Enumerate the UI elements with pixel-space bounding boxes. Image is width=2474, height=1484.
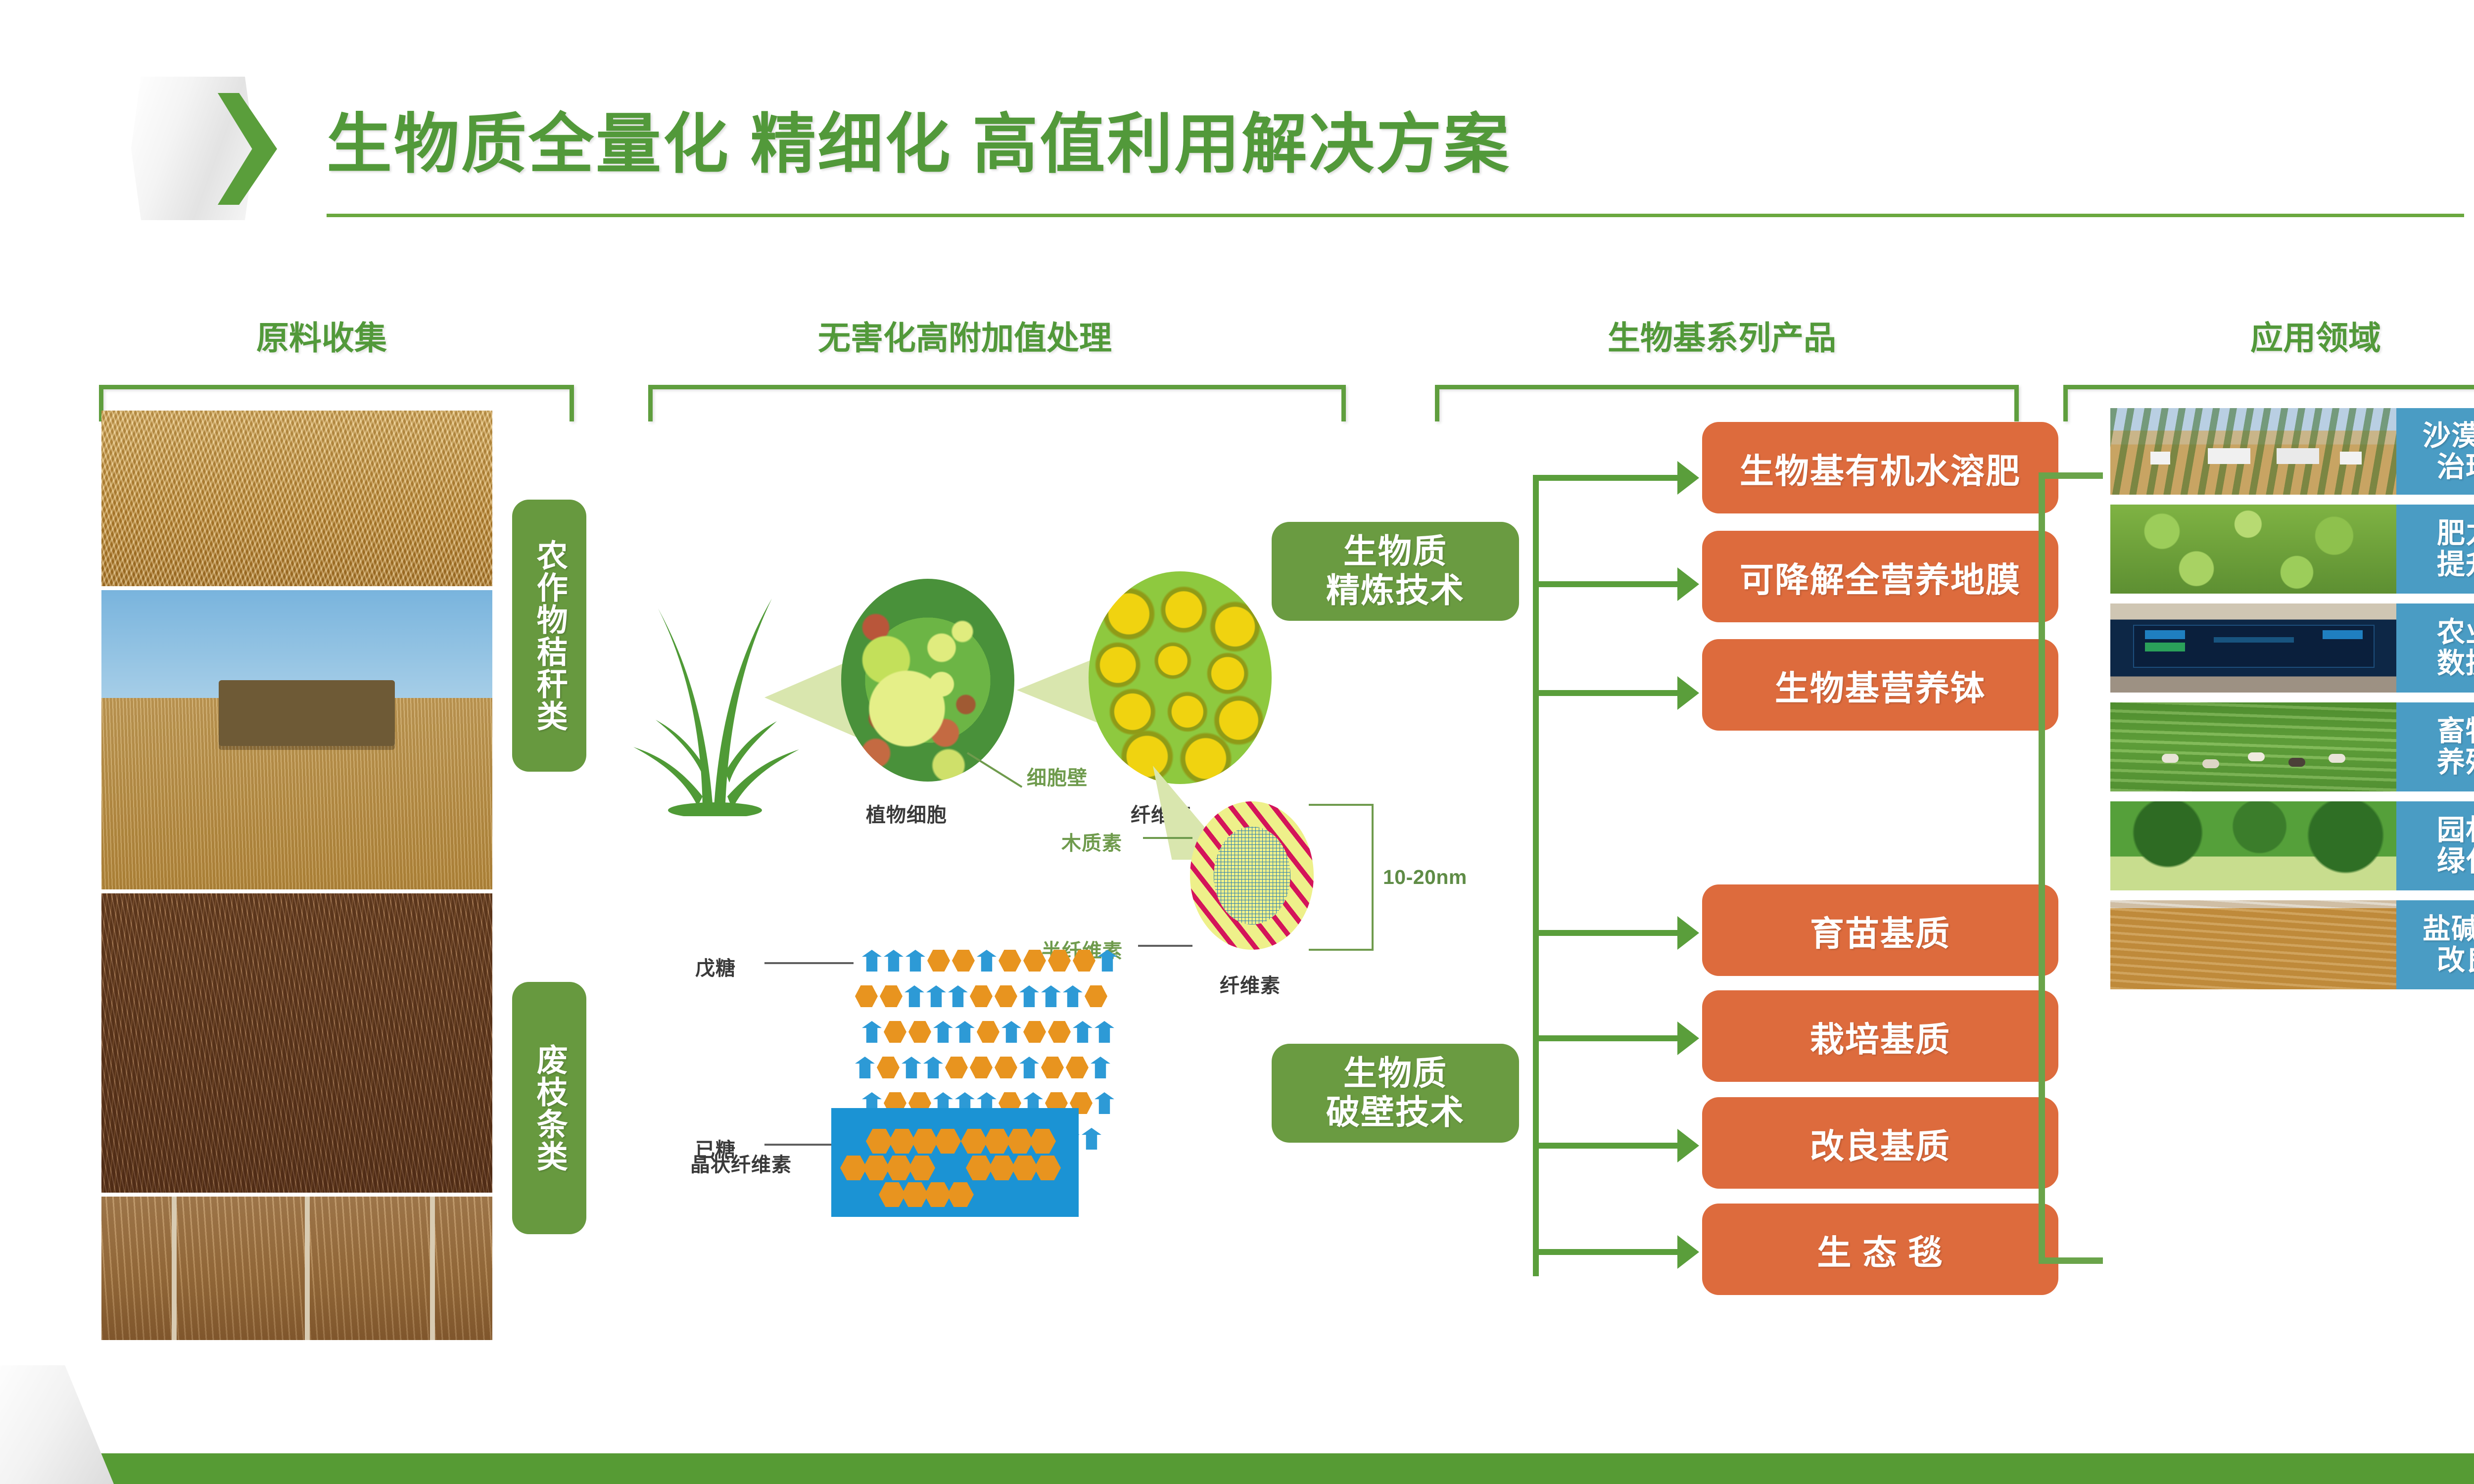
connector-branch-bottom-1 bbox=[1533, 930, 1681, 936]
photo-desert-restoration bbox=[2110, 408, 2397, 495]
hexose-unit-icon bbox=[995, 985, 1017, 1007]
arrowhead-bottom-4 bbox=[1677, 1235, 1699, 1269]
photo-corn-straw-field bbox=[101, 411, 492, 586]
application-label-line2: 数据 bbox=[2437, 648, 2474, 679]
hexose-unit-icon bbox=[1066, 1057, 1089, 1078]
tech-node-refining[interactable]: 生物质 精炼技术 bbox=[1272, 522, 1519, 621]
tech-node-line1: 生物质 bbox=[1343, 1054, 1447, 1093]
photo-park-landscaping bbox=[2110, 801, 2397, 890]
application-label-line1: 畜牧 bbox=[2437, 716, 2474, 747]
application-label-fertility-improvement[interactable]: 肥力 提升 bbox=[2396, 505, 2474, 594]
hexose-unit-icon bbox=[1041, 1057, 1064, 1078]
photo-pruned-branches bbox=[101, 893, 492, 1193]
footer-bar bbox=[99, 1453, 2474, 1484]
application-label-line1: 沙漠化 bbox=[2423, 420, 2474, 452]
hexose-unit-icon bbox=[970, 985, 993, 1007]
connector-branch-top-1 bbox=[1533, 475, 1681, 481]
plant-cell-label: 植物细胞 bbox=[866, 799, 947, 828]
hexose-unit-icon bbox=[1073, 950, 1095, 972]
pentose-leader-line bbox=[764, 962, 854, 964]
dim-line-vertical bbox=[1372, 804, 1374, 951]
hexose-unit-icon bbox=[995, 1057, 1017, 1078]
connector-branch-bottom-2 bbox=[1533, 1035, 1681, 1041]
sugar-chain-row bbox=[855, 1057, 1110, 1078]
arrowhead-bottom-3 bbox=[1677, 1129, 1699, 1162]
footer-wedge-decoration bbox=[0, 1365, 114, 1484]
photo-saline-alkali-land bbox=[2110, 900, 2397, 989]
arrowhead-bottom-1 bbox=[1677, 916, 1699, 950]
application-label-line2: 养殖 bbox=[2437, 747, 2474, 778]
feedstock-category-waste-branches[interactable]: 废枝条类 bbox=[512, 982, 586, 1234]
application-label-livestock-breeding[interactable]: 畜牧 养殖 bbox=[2396, 702, 2474, 791]
tech-node-wall-breaking[interactable]: 生物质 破壁技术 bbox=[1272, 1044, 1519, 1143]
bracket-processing bbox=[648, 385, 1346, 421]
hexose-unit-icon bbox=[884, 1021, 906, 1043]
application-label-line2: 治理 bbox=[2437, 452, 2474, 483]
arrowhead-top-3 bbox=[1677, 676, 1699, 710]
slide-canvas: 生物质全量化 精细化 高值利用解决方案 原料收集 无害化高附加值处理 生物基系列… bbox=[0, 0, 2474, 1484]
tech-node-line2: 精炼技术 bbox=[1326, 571, 1465, 610]
connector-branch-top-3 bbox=[1533, 690, 1681, 696]
application-label-line1: 盐碱地 bbox=[2423, 914, 2474, 945]
application-label-desertification-control[interactable]: 沙漠化 治理 bbox=[2396, 408, 2474, 495]
pentose-unit-icon bbox=[902, 1057, 921, 1078]
pentose-unit-icon bbox=[1041, 985, 1061, 1007]
hexose-unit-icon bbox=[1023, 950, 1046, 972]
tech-node-line2: 破壁技术 bbox=[1326, 1093, 1465, 1132]
pentose-unit-icon bbox=[948, 985, 968, 1007]
lignin-leader-line bbox=[1143, 837, 1192, 839]
photo-vineyard-pruning bbox=[101, 1197, 492, 1340]
pentose-unit-icon bbox=[1019, 985, 1039, 1007]
application-label-agriculture-data[interactable]: 农业 数据 bbox=[2396, 603, 2474, 693]
title-underline-divider bbox=[327, 214, 2464, 217]
pentose-unit-icon bbox=[905, 950, 925, 972]
hexose-unit-icon bbox=[855, 985, 878, 1007]
hexose-unit-icon bbox=[1048, 950, 1071, 972]
application-label-line1: 园林 bbox=[2437, 815, 2474, 846]
hexose-unit-icon bbox=[877, 1057, 900, 1078]
fiber-dimension-label: 10-20nm bbox=[1383, 866, 1467, 889]
product-node-ecological-blanket[interactable]: 生 态 毯 bbox=[1702, 1204, 2058, 1295]
cell-wall-label: 细胞壁 bbox=[1027, 762, 1088, 790]
pentose-unit-icon bbox=[1019, 1057, 1039, 1078]
pentose-unit-icon bbox=[1094, 1092, 1114, 1114]
dim-tick-top bbox=[1309, 804, 1373, 806]
pentose-unit-icon bbox=[1094, 1021, 1114, 1043]
hexose-unit-icon bbox=[908, 1021, 931, 1043]
pentose-unit-icon bbox=[1073, 1021, 1093, 1043]
arrowhead-top-1 bbox=[1677, 461, 1699, 495]
crystalline-cellulose-panel bbox=[831, 1108, 1079, 1217]
sugar-chain-row bbox=[855, 985, 1107, 1007]
application-label-saline-alkali-improvement[interactable]: 盐碱地 改良 bbox=[2396, 900, 2474, 989]
section-label-collection: 原料收集 bbox=[163, 312, 480, 359]
product-node-improvement-substrate[interactable]: 改良基质 bbox=[1702, 1097, 2058, 1189]
feedstock-category-crop-straw[interactable]: 农作物秸秆类 bbox=[512, 500, 586, 772]
pentose-unit-icon bbox=[1001, 1021, 1021, 1043]
hexose-unit-icon bbox=[970, 1057, 993, 1078]
dim-tick-bottom bbox=[1309, 949, 1373, 951]
hexose-unit-icon bbox=[880, 985, 903, 1007]
hexose-unit-icon bbox=[1085, 985, 1107, 1007]
feedstock-category-label: 农作物秸秆类 bbox=[533, 539, 566, 732]
pentose-unit-icon bbox=[933, 1021, 953, 1043]
sugar-chain-row bbox=[862, 1021, 1114, 1043]
application-label-line2: 绿化 bbox=[2437, 846, 2474, 877]
plant-cell-illustration bbox=[841, 579, 1014, 782]
product-node-water-soluble-fertilizer[interactable]: 生物基有机水溶肥 bbox=[1702, 422, 2058, 513]
pentose-unit-icon bbox=[977, 950, 997, 972]
hemicellulose-leader-line bbox=[1138, 945, 1192, 947]
hexose-unit-icon bbox=[1023, 1021, 1046, 1043]
application-label-line2: 改良 bbox=[2437, 945, 2474, 976]
hexose-unit-icon bbox=[945, 1057, 968, 1078]
pentose-unit-icon bbox=[926, 985, 946, 1007]
pentose-unit-icon bbox=[1091, 1057, 1110, 1078]
hexose-unit-icon bbox=[927, 950, 950, 972]
product-node-nutrition-pot[interactable]: 生物基营养钵 bbox=[1702, 639, 2058, 731]
photo-straw-bale-field bbox=[101, 590, 492, 889]
pentose-unit-icon bbox=[923, 1057, 943, 1078]
connector-branch-bottom-3 bbox=[1533, 1143, 1681, 1149]
pentose-unit-icon bbox=[862, 1021, 882, 1043]
cellulose-label: 纤维素 bbox=[1220, 970, 1281, 998]
product-node-seedling-substrate[interactable]: 育苗基质 bbox=[1702, 884, 2058, 976]
application-label-line2: 提升 bbox=[2437, 549, 2474, 580]
tech-node-line1: 生物质 bbox=[1343, 532, 1447, 571]
section-label-processing: 无害化高附加值处理 bbox=[658, 312, 1272, 359]
connector-branch-bottom-4 bbox=[1533, 1249, 1681, 1255]
application-label-line1: 农业 bbox=[2437, 617, 2474, 648]
hexose-unit-icon bbox=[1048, 1021, 1071, 1043]
photo-agriculture-data-control-room bbox=[2110, 603, 2397, 693]
feedstock-category-label: 废枝条类 bbox=[533, 1044, 566, 1172]
bracket-products bbox=[1435, 385, 2019, 421]
pentose-unit-icon bbox=[1063, 985, 1083, 1007]
hexose-unit-icon bbox=[999, 950, 1021, 972]
pentose-unit-icon bbox=[1097, 950, 1117, 972]
fiber-bundle-illustration bbox=[1089, 571, 1272, 784]
pentose-unit-icon bbox=[855, 1057, 875, 1078]
product-node-cultivation-substrate[interactable]: 栽培基质 bbox=[1702, 990, 2058, 1082]
arrowhead-bottom-2 bbox=[1677, 1021, 1699, 1055]
pentose-label: 戊糖 bbox=[695, 952, 736, 981]
arrowhead-top-2 bbox=[1677, 567, 1699, 601]
pentose-unit-icon bbox=[862, 950, 882, 972]
lignin-label: 木质素 bbox=[1061, 827, 1122, 856]
bracket-application-group bbox=[2039, 472, 2103, 1264]
photo-sheep-grazing-pasture bbox=[2110, 702, 2397, 791]
pentose-unit-icon bbox=[955, 1021, 975, 1043]
section-label-products: 生物基系列产品 bbox=[1425, 312, 2019, 359]
connector-trunk-bottom bbox=[1533, 930, 1539, 1276]
crystalline-cellulose-label: 晶状纤维素 bbox=[690, 1149, 792, 1177]
product-node-degradable-mulch-film[interactable]: 可降解全营养地膜 bbox=[1702, 531, 2058, 622]
page-title: 生物质全量化 精细化 高值利用解决方案 bbox=[327, 92, 1511, 186]
hexose-unit-icon bbox=[952, 950, 975, 972]
pentose-unit-icon bbox=[904, 985, 924, 1007]
pentose-unit-icon bbox=[884, 950, 904, 972]
fiber-cross-section-illustration bbox=[1190, 801, 1314, 950]
connector-branch-top-2 bbox=[1533, 581, 1681, 587]
photo-cabbage-field bbox=[2110, 505, 2397, 594]
cell-wall-leader-line bbox=[967, 752, 1022, 788]
application-label-garden-greening[interactable]: 园林 绿化 bbox=[2396, 801, 2474, 890]
pentose-unit-icon bbox=[1082, 1128, 1101, 1150]
sugar-chain-row bbox=[862, 950, 1117, 972]
application-label-line1: 肥力 bbox=[2437, 518, 2474, 549]
hexose-unit-icon bbox=[977, 1021, 999, 1043]
grass-plant-icon bbox=[628, 539, 807, 816]
section-label-applications: 应用领域 bbox=[2098, 312, 2474, 359]
